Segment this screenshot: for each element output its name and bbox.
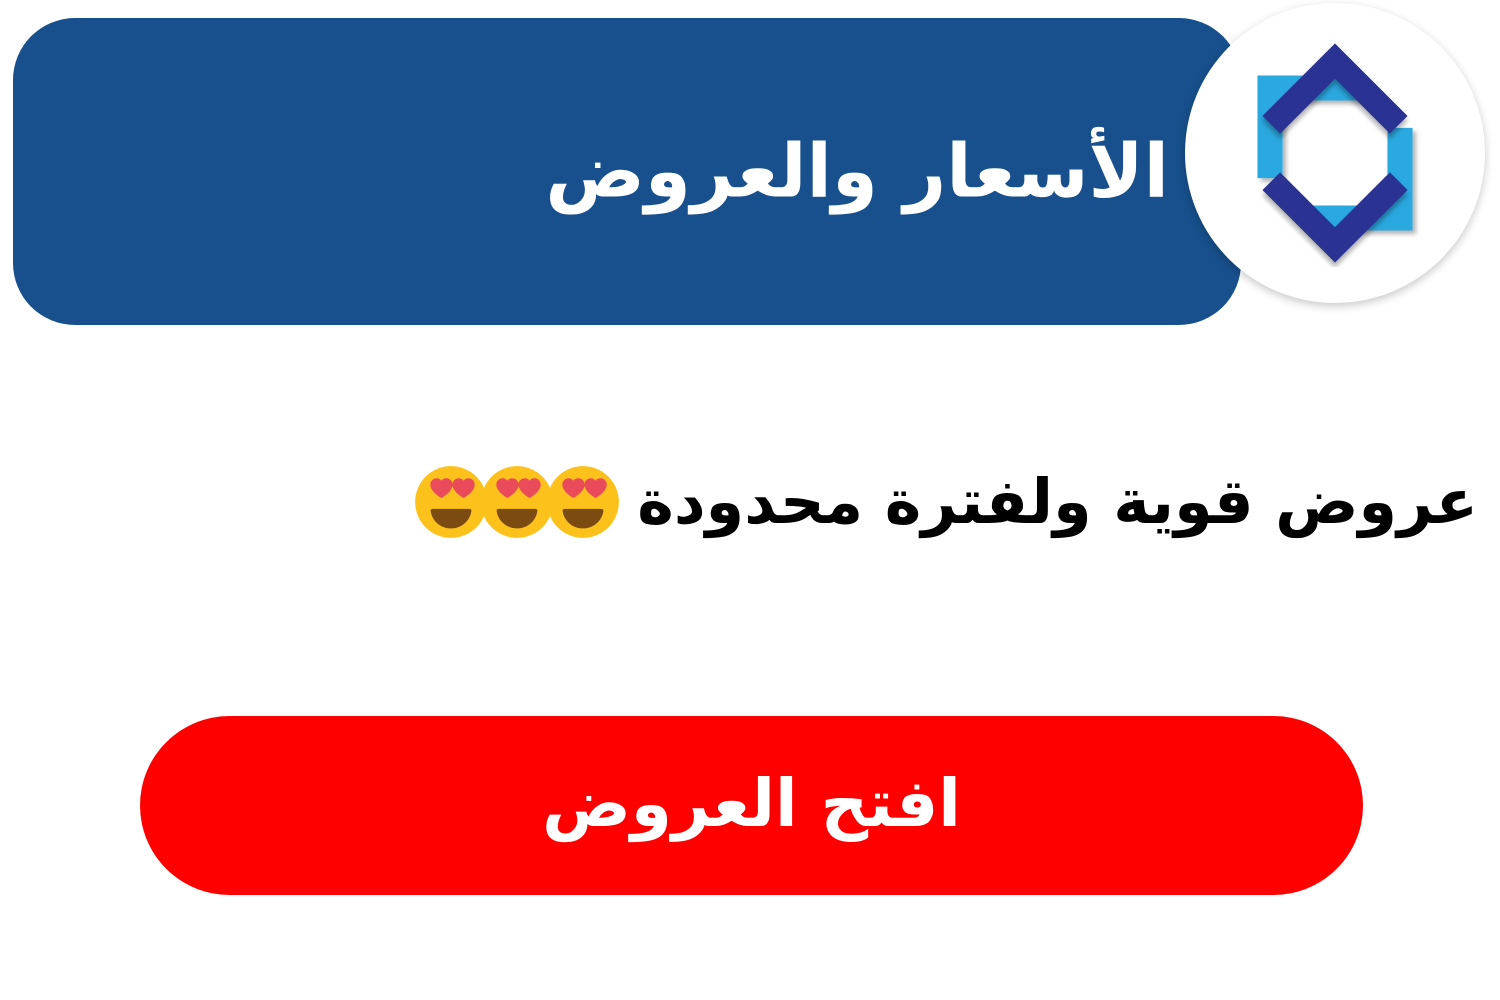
tagline-text: عروض قوية ولفترة محدودة (637, 463, 1478, 541)
page-title: الأسعار والعروض (545, 129, 1169, 214)
header-banner: الأسعار والعروض (13, 18, 1241, 325)
brand-logo-badge (1185, 3, 1485, 303)
open-offers-button[interactable]: افتح العروض (140, 716, 1363, 895)
interlocking-squares-logo-icon (1221, 39, 1449, 267)
promo-page: الأسعار والعروض (0, 0, 1500, 1000)
emoji-group (413, 464, 621, 540)
smiling-face-with-heart-eyes-icon (479, 464, 555, 540)
open-offers-button-label: افتح العروض (542, 771, 961, 837)
tagline-row: عروض قوية ولفترة محدودة (0, 437, 1500, 567)
smiling-face-with-heart-eyes-icon (545, 464, 621, 540)
smiling-face-with-heart-eyes-icon (413, 464, 489, 540)
